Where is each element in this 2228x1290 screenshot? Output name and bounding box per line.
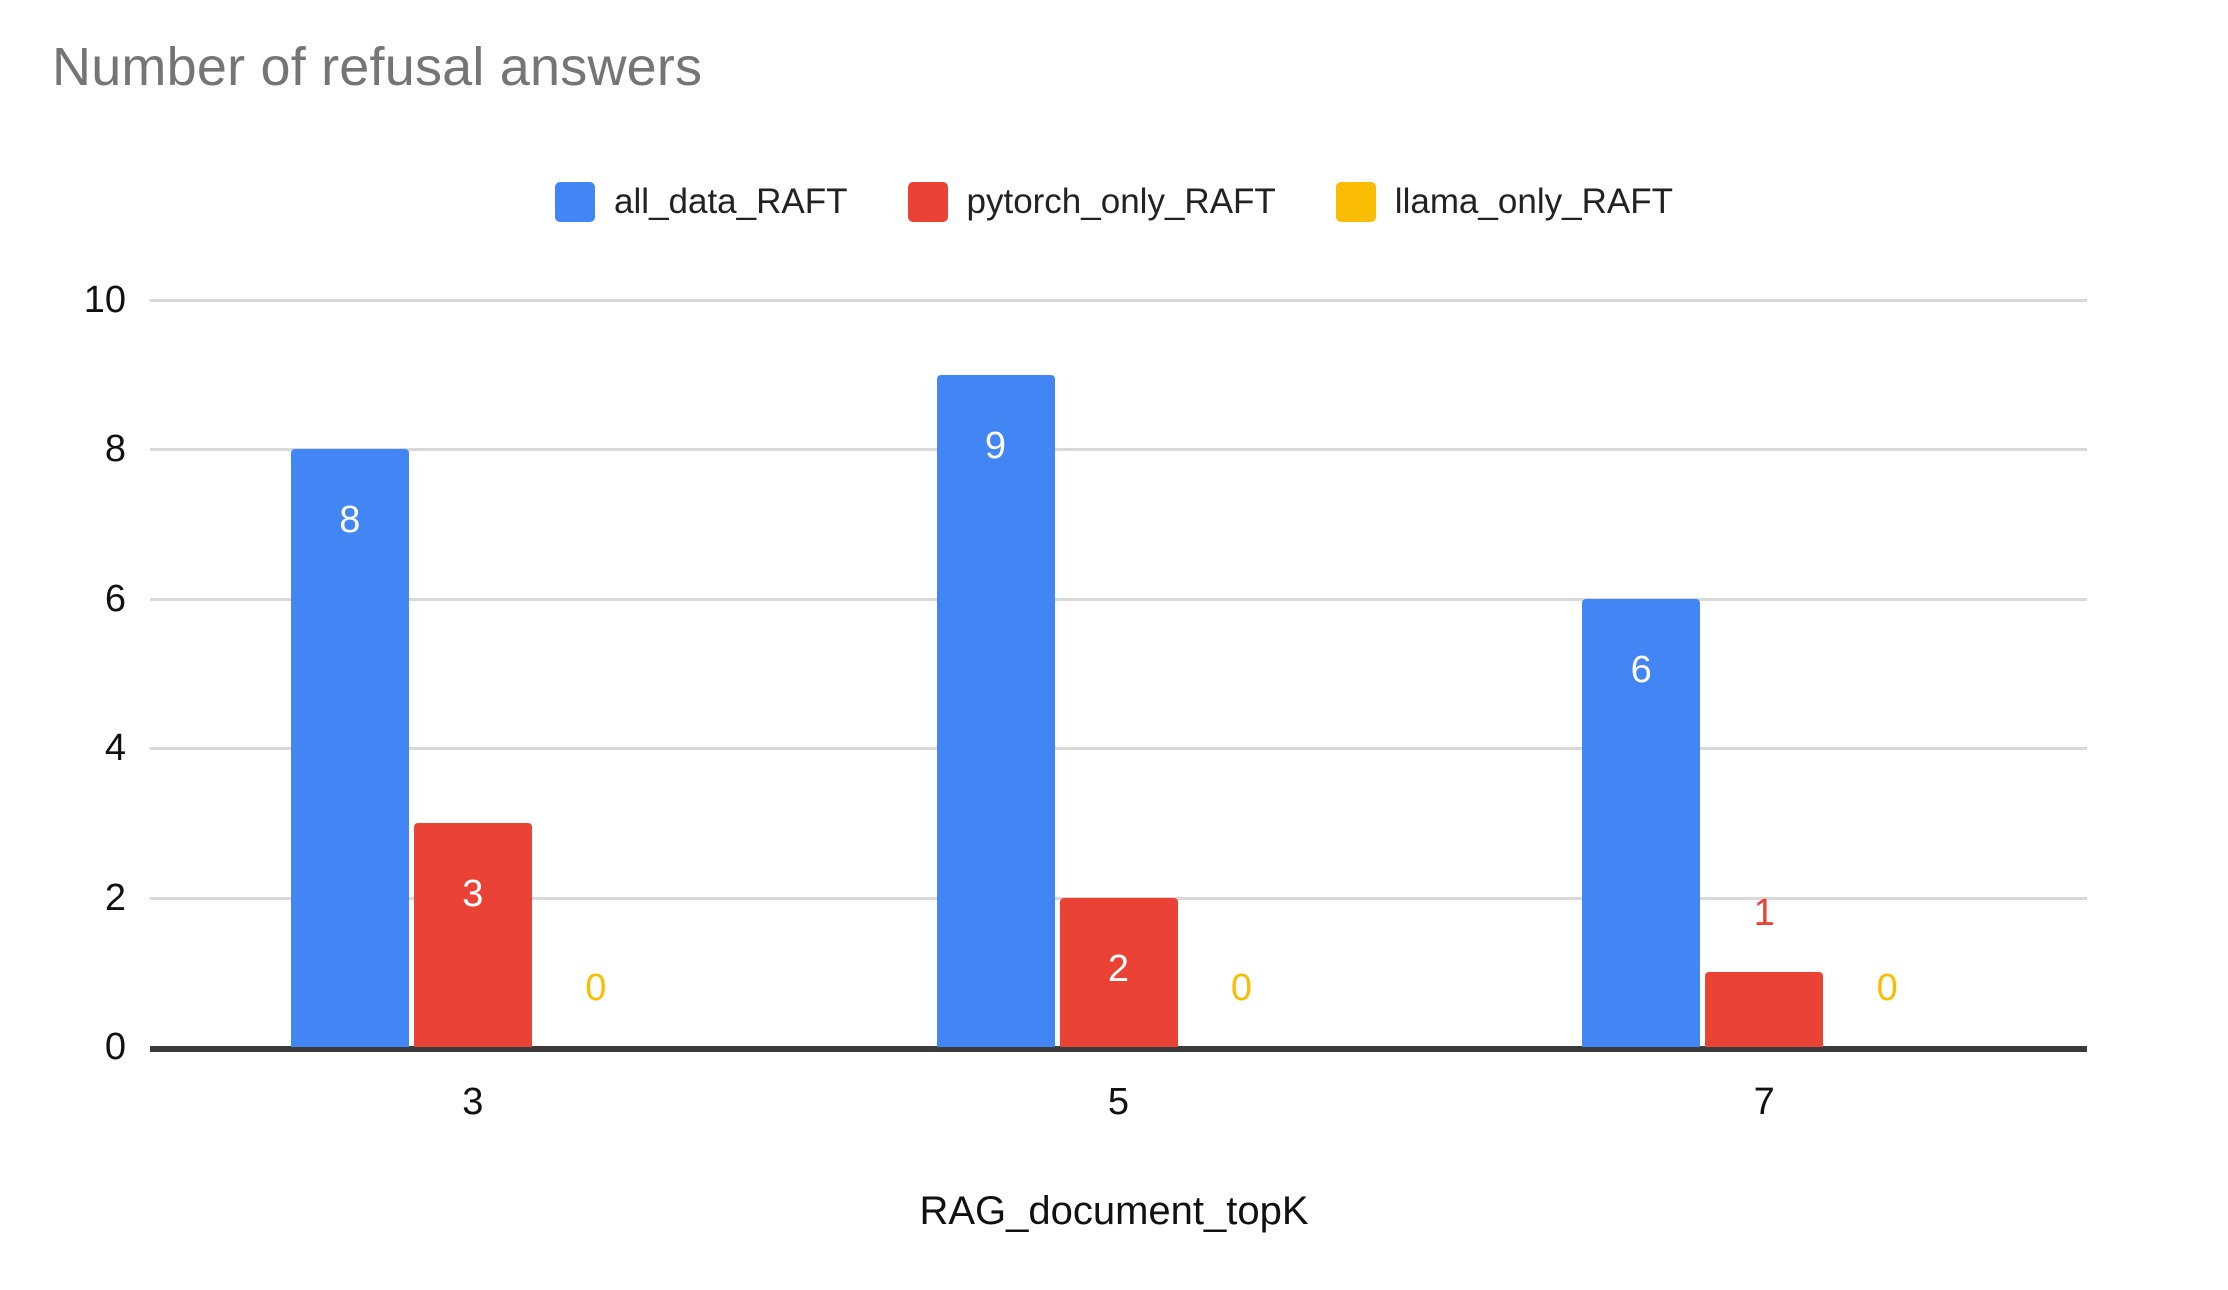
bar[interactable] (1705, 972, 1823, 1047)
legend-swatch-icon (555, 182, 595, 222)
bar[interactable] (937, 375, 1055, 1047)
y-axis-tick-label: 0 (105, 1028, 126, 1066)
x-axis-title: RAG_document_topK (0, 1188, 2228, 1234)
legend-item-llama_only_RAFT[interactable]: llama_only_RAFT (1336, 182, 1673, 222)
gridline (150, 448, 2087, 451)
legend-item-label: pytorch_only_RAFT (967, 182, 1276, 222)
chart-title: Number of refusal answers (52, 36, 702, 98)
bar[interactable] (414, 823, 532, 1047)
legend-swatch-icon (1336, 182, 1376, 222)
legend-item-all_data_RAFT[interactable]: all_data_RAFT (555, 182, 847, 222)
bar-value-label: 8 (339, 501, 360, 539)
bar-value-label: 0 (1877, 969, 1898, 1007)
legend-item-pytorch_only_RAFT[interactable]: pytorch_only_RAFT (908, 182, 1276, 222)
x-axis-tick-label: 3 (462, 1083, 483, 1121)
y-axis-tick-label: 6 (105, 580, 126, 618)
bar-value-label: 0 (585, 969, 606, 1007)
legend-item-label: llama_only_RAFT (1395, 182, 1673, 222)
bar-value-label: 9 (985, 427, 1006, 465)
bar-value-label: 6 (1631, 651, 1652, 689)
y-axis-tick-label: 10 (84, 281, 126, 319)
legend-swatch-icon (908, 182, 948, 222)
gridline (150, 299, 2087, 302)
bar-value-label: 2 (1108, 950, 1129, 988)
bar-value-label: 3 (462, 875, 483, 913)
y-axis-tick-label: 4 (105, 729, 126, 767)
y-axis-tick-label: 8 (105, 430, 126, 468)
x-axis-tick-label: 5 (1108, 1083, 1129, 1121)
chart-legend: all_data_RAFTpytorch_only_RAFTllama_only… (0, 182, 2228, 222)
gridline (150, 598, 2087, 601)
plot-area: 0246810830392056107 (150, 300, 2087, 1047)
gridline (150, 747, 2087, 750)
bar-value-label: 0 (1231, 969, 1252, 1007)
bar-chart: Number of refusal answers all_data_RAFTp… (0, 0, 2228, 1290)
x-axis-tick-label: 7 (1754, 1083, 1775, 1121)
legend-item-label: all_data_RAFT (614, 182, 847, 222)
y-axis-tick-label: 2 (105, 879, 126, 917)
bar-value-label: 1 (1754, 894, 1775, 932)
